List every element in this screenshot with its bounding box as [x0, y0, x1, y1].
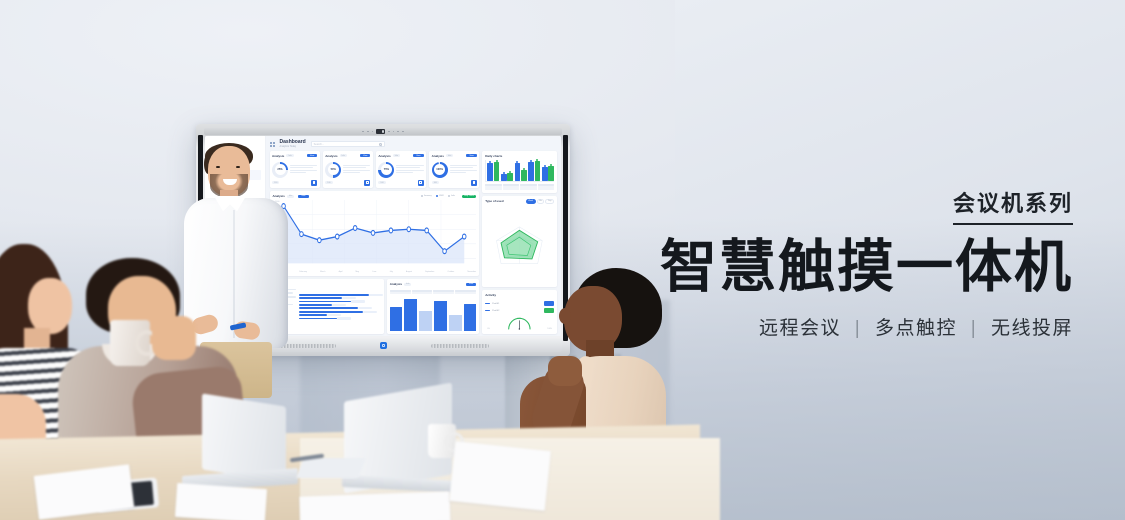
dashboard-body: Analysis Info View 25% [270, 151, 557, 334]
banner-copy: 会议机系列 智慧触摸一体机 远程会议 | 多点触控 | 无线投屏 [653, 186, 1073, 340]
card-tag: Info [393, 154, 400, 157]
tablet-device [296, 458, 366, 478]
mic-dot-icon [397, 131, 399, 133]
card-title: Analysis [390, 282, 402, 286]
expand-icon[interactable] [311, 180, 317, 186]
dashboard-bottom-row: Analysis [270, 279, 480, 334]
card-footer-value: 100 [378, 181, 385, 184]
daily-charts-toggle[interactable]: Daily charts [462, 195, 476, 198]
card-placeholder-lines [290, 165, 317, 175]
legend-item[interactable]: January [421, 195, 432, 198]
expand-icon[interactable] [364, 180, 370, 186]
card-action-button[interactable]: View [413, 154, 423, 157]
card-placeholder-lines [396, 165, 423, 175]
kpi-card-row: Analysis Info View 25% [270, 151, 480, 188]
kpi-card[interactable]: Analysis Info View 50% [323, 151, 373, 188]
feature-3: 无线投屏 [991, 318, 1073, 339]
banner-features: 远程会议 | 多点触控 | 无线投屏 [653, 313, 1073, 340]
kpi-card[interactable]: Analysis Info View 100% [429, 151, 479, 188]
card-title: Type of used [485, 199, 503, 203]
donut-value: 100% [434, 164, 445, 175]
x-tick: October [448, 271, 455, 273]
gauge-min: 0% [487, 328, 490, 330]
dash-icon [485, 303, 490, 304]
legend-item[interactable]: Info [448, 195, 455, 198]
card-title: Daily charts [485, 154, 502, 158]
card-footer-value: 100 [432, 181, 439, 184]
expand-icon[interactable] [418, 180, 424, 186]
mic-dot-icon [367, 131, 369, 133]
card-title: Analysis [378, 154, 390, 158]
legend-item[interactable]: 2022 [436, 195, 444, 198]
x-tick: June [372, 271, 376, 273]
donut-value: 50% [328, 164, 339, 175]
line-chart-card[interactable]: Analysis Info View January 2022 Info Dai… [270, 191, 480, 276]
donut-gauge: 50% [325, 162, 341, 178]
power-button[interactable] [380, 342, 387, 349]
daily-bar-chart [485, 160, 554, 182]
legend-label: Info [451, 195, 455, 197]
dashboard-header: Dashboard Analytics Today Search... [270, 140, 557, 148]
gauge-row-label: Pro001 [492, 303, 499, 305]
x-tick: July [390, 271, 393, 273]
x-tick: August [406, 271, 412, 273]
card-title: Analysis [325, 154, 337, 158]
x-tick: September [425, 271, 434, 273]
line-series [280, 200, 477, 273]
banner-stage: Home Dashboard Admin [0, 0, 1125, 520]
card-action-button[interactable]: View [466, 154, 476, 157]
paper-sheet [175, 483, 267, 520]
display-top-bezel [204, 128, 562, 135]
banner-headline: 智慧触摸一体机 [653, 237, 1073, 299]
daily-charts-card[interactable]: Daily charts [482, 151, 557, 193]
daily-table [485, 184, 554, 190]
dash-icon [485, 310, 490, 311]
x-tick: April [339, 271, 343, 273]
man-hand [152, 316, 196, 360]
laptop-left [176, 400, 286, 492]
donut-gauge: 75% [378, 162, 394, 178]
card-tag: Info [446, 154, 453, 157]
dashboard-left-column: Analysis Info View 25% [270, 151, 480, 334]
card-action-button[interactable]: View [307, 154, 317, 157]
card-title: Analysis [432, 154, 444, 158]
line-chart-plot-area: 1000 800 600 400 200 [273, 200, 477, 273]
segment-option[interactable]: Mo [537, 199, 545, 204]
segment-option[interactable]: Day [545, 199, 554, 204]
legend-label: January [424, 195, 432, 197]
card-tag: Info [404, 283, 411, 286]
donut-value: 75% [381, 164, 392, 175]
search-placeholder: Search... [314, 143, 324, 146]
expand-icon[interactable] [471, 180, 477, 186]
dashboard-main: Dashboard Analytics Today Search... [266, 136, 561, 336]
banner-eyebrow: 会议机系列 [953, 186, 1073, 225]
x-axis: January February March April May June Ju… [280, 271, 477, 273]
card-title: Activity [485, 293, 496, 297]
coffee-mug [428, 424, 456, 458]
card-placeholder-lines [450, 165, 477, 175]
feature-separator: | [848, 318, 868, 339]
x-tick: March [320, 271, 325, 273]
feature-separator: | [964, 318, 984, 339]
search-input[interactable]: Search... [311, 141, 385, 147]
woman-hand [548, 356, 582, 386]
segmented-control[interactable]: Week Mo Day [526, 199, 554, 204]
coffee-cup [110, 320, 150, 366]
legend-label: 2022 [439, 195, 443, 197]
card-tag: Info [340, 154, 347, 157]
paper-sheet [300, 491, 451, 520]
chart-legend: January 2022 Info Daily charts [421, 195, 477, 198]
feature-2: 多点触控 [875, 318, 957, 339]
search-icon [379, 143, 382, 146]
mic-dot-icon [402, 131, 404, 133]
feature-1: 远程会议 [759, 318, 841, 339]
horizontal-bars [299, 282, 380, 331]
card-action-button[interactable]: View [466, 283, 476, 286]
mic-dot-icon [388, 131, 390, 133]
speaker-grille-icon [431, 344, 489, 348]
donut-gauge: 100% [432, 162, 448, 178]
vertical-bars [390, 294, 477, 331]
gauge-row-label: Pro002 [492, 310, 499, 312]
kpi-card[interactable]: Analysis Info View 75% [376, 151, 426, 188]
x-tick: February [299, 271, 307, 273]
x-tick: May [356, 271, 360, 273]
card-footer-value: 100 [325, 181, 332, 184]
card-action-button[interactable]: View [298, 195, 308, 198]
mic-dot-icon [372, 131, 374, 133]
mic-dot-icon [393, 131, 395, 133]
mic-dot-icon [362, 131, 364, 133]
card-placeholder-lines [343, 165, 370, 175]
segment-option[interactable]: Week [526, 199, 536, 204]
x-tick: November [467, 271, 476, 273]
card-action-button[interactable]: View [360, 154, 370, 157]
paper-sheet [449, 441, 551, 511]
camera-icon [376, 129, 385, 134]
vertical-bar-card[interactable]: Analysis Info View [387, 279, 480, 334]
